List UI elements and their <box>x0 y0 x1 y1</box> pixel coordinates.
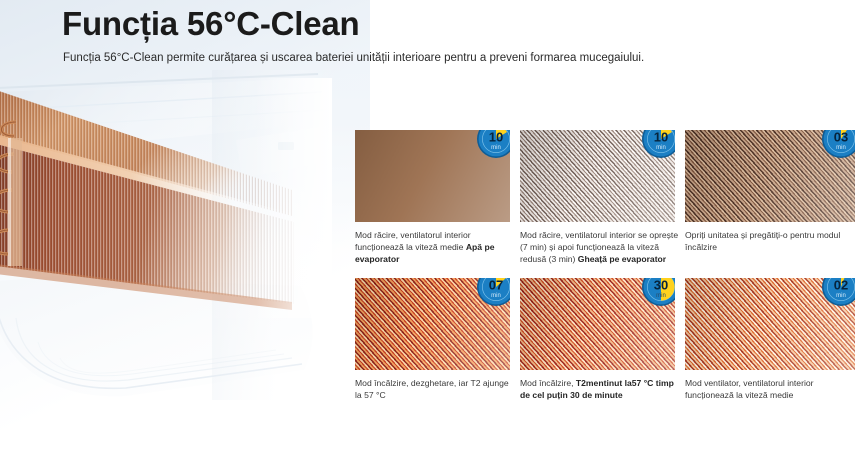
badge-unit-2: min <box>656 145 666 151</box>
step-photo-6: 02 min <box>685 278 855 370</box>
minutes-badge-6: 02 min <box>821 278 855 307</box>
step-caption-2: Mod răcire, ventilatorul interior se opr… <box>520 229 680 266</box>
minutes-badge-3: 03 min <box>821 130 855 159</box>
step-photo-2: 10 min <box>520 130 675 222</box>
step-card-2: 10 min Mod răcire, ventilatorul interior… <box>520 130 685 266</box>
step-caption-5: Mod încălzire, T2mentinut la57 °C timp d… <box>520 377 680 401</box>
step-card-5: 30 min Mod încălzire, T2mentinut la57 °C… <box>520 278 685 401</box>
minutes-badge-1: 10 min <box>476 130 510 159</box>
badge-value-4: 07 <box>489 278 503 292</box>
step-photo-5: 30 min <box>520 278 675 370</box>
badge-value-6: 02 <box>834 278 848 292</box>
copper-evaporator-coil-illustration <box>0 78 332 318</box>
indoor-unit-ghost-illustration <box>0 70 338 400</box>
step-card-1: 10 min Mod răcire, ventilatorul interior… <box>355 130 520 266</box>
background-wash <box>0 0 370 451</box>
step-caption-6: Mod ventilator, ventilatorul interior fu… <box>685 377 857 401</box>
step-card-3: 03 min Opriți unitatea și pregătiți-o pe… <box>685 130 863 266</box>
caption-text-plain: Mod răcire, ventilatorul interior funcți… <box>355 230 471 252</box>
step-caption-3: Opriți unitatea și pregătiți-o pentru mo… <box>685 229 857 253</box>
badge-unit-5: min <box>656 293 666 299</box>
step-card-4: 07 min Mod încălzire, dezghetare, iar T2… <box>355 278 520 401</box>
page-root: Funcția 56°C-Clean Funcția 56°C-Clean pe… <box>0 0 863 451</box>
caption-text-plain: Mod încălzire, <box>520 378 576 388</box>
badge-unit-1: min <box>491 145 501 151</box>
step-card-6: 02 min Mod ventilator, ventilatorul inte… <box>685 278 863 401</box>
step-photo-4: 07 min <box>355 278 510 370</box>
page-subtitle: Funcția 56°C-Clean permite curățarea și … <box>63 52 644 64</box>
step-photo-1: 10 min <box>355 130 510 222</box>
step-caption-4: Mod încălzire, dezghetare, iar T2 ajunge… <box>355 377 515 401</box>
badge-value-2: 10 <box>654 130 668 144</box>
minutes-badge-4: 07 min <box>476 278 510 307</box>
caption-text-plain: Opriți unitatea și pregătiți-o pentru mo… <box>685 230 840 252</box>
step-photo-3: 03 min <box>685 130 855 222</box>
badge-value-3: 03 <box>834 130 848 144</box>
caption-text-plain: Mod încălzire, dezghetare, iar T2 ajunge… <box>355 378 509 400</box>
minutes-badge-2: 10 min <box>641 130 675 159</box>
minutes-badge-5: 30 min <box>641 278 675 307</box>
badge-unit-6: min <box>836 293 846 299</box>
caption-text-plain: Mod ventilator, ventilatorul interior fu… <box>685 378 814 400</box>
page-title: Funcția 56°C-Clean <box>62 6 360 43</box>
steps-grid: 10 min Mod răcire, ventilatorul interior… <box>355 130 863 401</box>
badge-unit-3: min <box>836 145 846 151</box>
step-caption-1: Mod răcire, ventilatorul interior funcți… <box>355 229 515 266</box>
badge-value-1: 10 <box>489 130 503 144</box>
badge-unit-4: min <box>491 293 501 299</box>
badge-value-5: 30 <box>654 278 668 292</box>
grid-row-spacer <box>355 266 863 278</box>
caption-text-bold: Gheață pe evaporator <box>578 254 666 264</box>
